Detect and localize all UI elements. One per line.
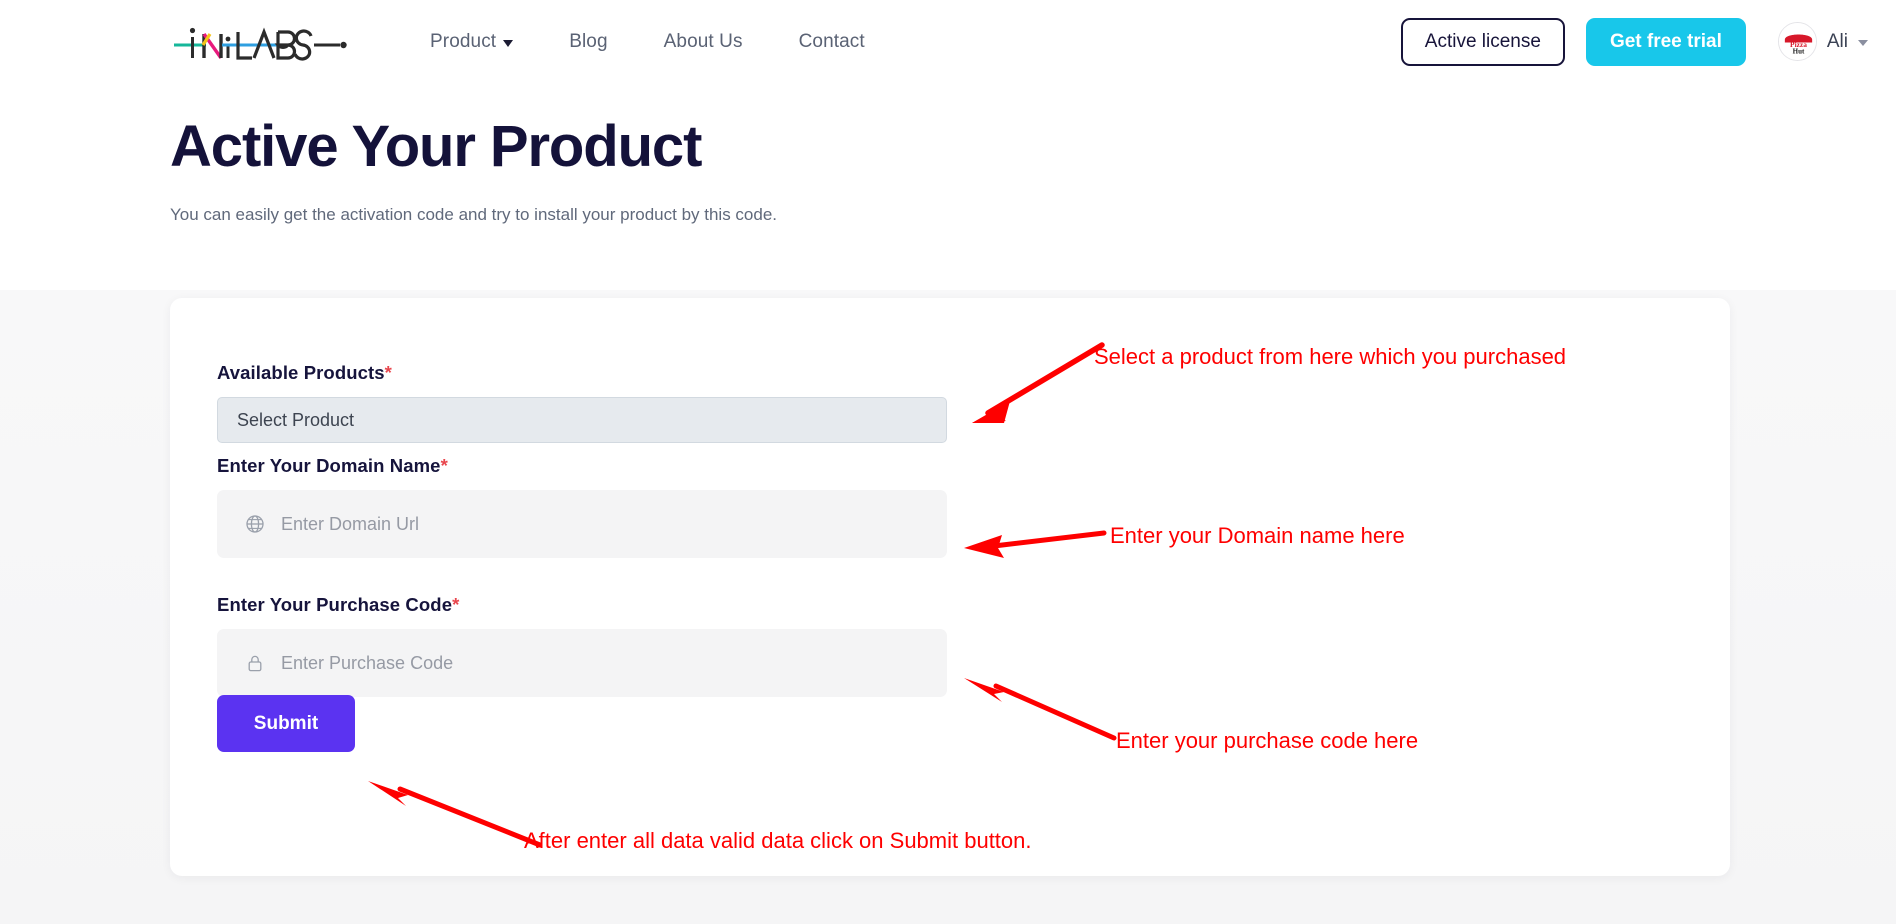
globe-icon xyxy=(245,514,265,534)
domain-name-placeholder: Enter Domain Url xyxy=(281,514,419,535)
chevron-down-icon xyxy=(1858,40,1868,46)
select-product-value: Select Product xyxy=(237,410,354,431)
annotation-text-select: Select a product from here which you pur… xyxy=(1094,344,1566,370)
svg-text:Hut: Hut xyxy=(1793,48,1805,56)
nav-link-about-us[interactable]: About Us xyxy=(664,31,743,53)
avatar: Pizza Hut xyxy=(1778,22,1817,61)
inilabs-logo[interactable] xyxy=(172,18,352,64)
page-title: Active Your Product xyxy=(170,118,701,176)
domain-name-label: Enter Your Domain Name* xyxy=(217,455,448,477)
chevron-down-icon xyxy=(503,40,513,47)
user-menu[interactable]: Pizza Hut Ali xyxy=(1778,22,1868,61)
purchase-code-field[interactable]: Enter Purchase Code xyxy=(217,629,947,697)
annotation-arrow-domain xyxy=(952,525,1112,565)
page-subtitle: You can easily get the activation code a… xyxy=(170,205,777,225)
select-product-field[interactable]: Select Product xyxy=(217,397,947,443)
required-marker: * xyxy=(385,362,392,383)
nav-link-contact[interactable]: Contact xyxy=(799,31,865,53)
annotation-arrow-select xyxy=(950,335,1110,425)
purchase-code-placeholder: Enter Purchase Code xyxy=(281,653,453,674)
required-marker: * xyxy=(452,594,459,615)
annotation-text-domain: Enter your Domain name here xyxy=(1110,523,1405,549)
navbar-right-actions: Active license Get free trial Pizza Hut … xyxy=(1401,0,1896,83)
get-free-trial-button[interactable]: Get free trial xyxy=(1586,18,1746,66)
lock-icon xyxy=(245,653,265,673)
top-navbar: Product Blog About Us Contact Active lic… xyxy=(0,0,1896,83)
active-license-button[interactable]: Active license xyxy=(1401,18,1565,66)
available-products-label: Available Products* xyxy=(217,362,392,384)
annotation-arrow-submit xyxy=(358,775,548,855)
nav-link-product[interactable]: Product xyxy=(430,31,513,53)
required-marker: * xyxy=(441,455,448,476)
annotation-text-purchase: Enter your purchase code here xyxy=(1116,728,1418,754)
nav-link-blog[interactable]: Blog xyxy=(569,31,607,53)
annotation-text-submit: After enter all data valid data click on… xyxy=(524,828,1032,854)
nav-link-product-label: Product xyxy=(430,31,496,53)
user-name: Ali xyxy=(1827,31,1848,53)
activation-page: Product Blog About Us Contact Active lic… xyxy=(0,0,1896,924)
purchase-code-label: Enter Your Purchase Code* xyxy=(217,594,459,616)
annotation-arrow-purchase xyxy=(952,670,1122,750)
submit-button[interactable]: Submit xyxy=(217,695,355,752)
nav-links: Product Blog About Us Contact xyxy=(430,0,865,83)
domain-name-field[interactable]: Enter Domain Url xyxy=(217,490,947,558)
